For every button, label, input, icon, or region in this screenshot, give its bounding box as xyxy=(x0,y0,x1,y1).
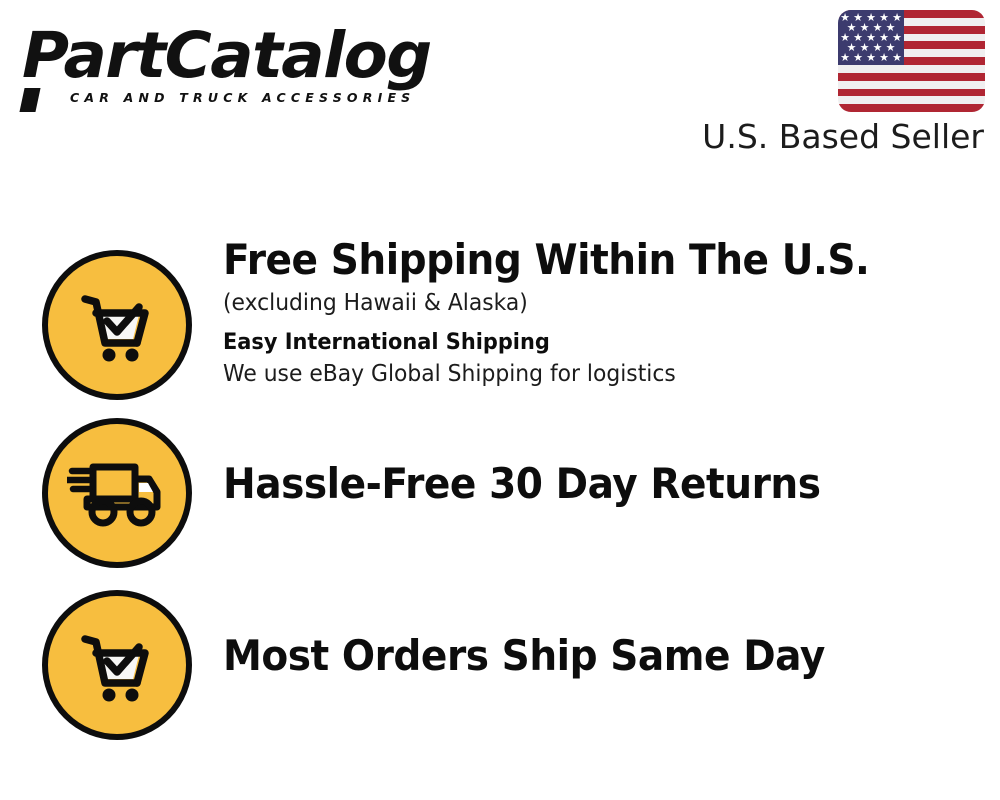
flag-canton: ★ ★ ★ ★ ★ ★ ★ ★ ★ ★ ★ ★ ★ ★ ★ ★ xyxy=(838,10,904,65)
feature-text-block: Free Shipping Within The U.S. (excluding… xyxy=(223,236,980,389)
feature-text-block: Most Orders Ship Same Day xyxy=(223,632,980,680)
feature-row-same-day-ship: Most Orders Ship Same Day xyxy=(0,584,1000,754)
brand-wordmark: PartCatalog xyxy=(22,24,501,88)
flag-star: ★ xyxy=(878,53,891,64)
shopping-cart-check-icon xyxy=(42,590,192,740)
shopping-cart-check-icon xyxy=(42,250,192,400)
feature-title: Free Shipping Within The U.S. xyxy=(223,236,927,284)
brand-tagline: CAR AND TRUCK ACCESSORIES xyxy=(70,90,492,105)
feature-row-free-shipping: Free Shipping Within The U.S. (excluding… xyxy=(0,236,1000,408)
flag-star: ★ xyxy=(852,53,865,64)
feature-text-block: Hassle-Free 30 Day Returns xyxy=(223,460,980,508)
feature-title: Most Orders Ship Same Day xyxy=(223,632,927,680)
delivery-truck-icon xyxy=(42,418,192,568)
feature-title: Hassle-Free 30 Day Returns xyxy=(223,460,927,508)
brand-logo: PartCatalog CAR AND TRUCK ACCESSORIES xyxy=(22,24,492,119)
flag-star: ★ xyxy=(839,53,852,64)
banner-header: PartCatalog CAR AND TRUCK ACCESSORIES ★ … xyxy=(0,0,1000,180)
feature-subtitle-detail: We use eBay Global Shipping for logistic… xyxy=(223,359,942,389)
flag-star: ★ xyxy=(891,53,904,64)
flag-star: ★ xyxy=(865,53,878,64)
us-based-seller-label: U.S. Based Seller xyxy=(702,118,984,156)
feature-subtitle-strong: Easy International Shipping xyxy=(223,328,942,357)
feature-subtitle: (excluding Hawaii & Alaska) xyxy=(223,288,942,318)
feature-row-returns: Hassle-Free 30 Day Returns xyxy=(0,412,1000,582)
us-flag-icon: ★ ★ ★ ★ ★ ★ ★ ★ ★ ★ ★ ★ ★ ★ ★ ★ xyxy=(838,10,985,112)
